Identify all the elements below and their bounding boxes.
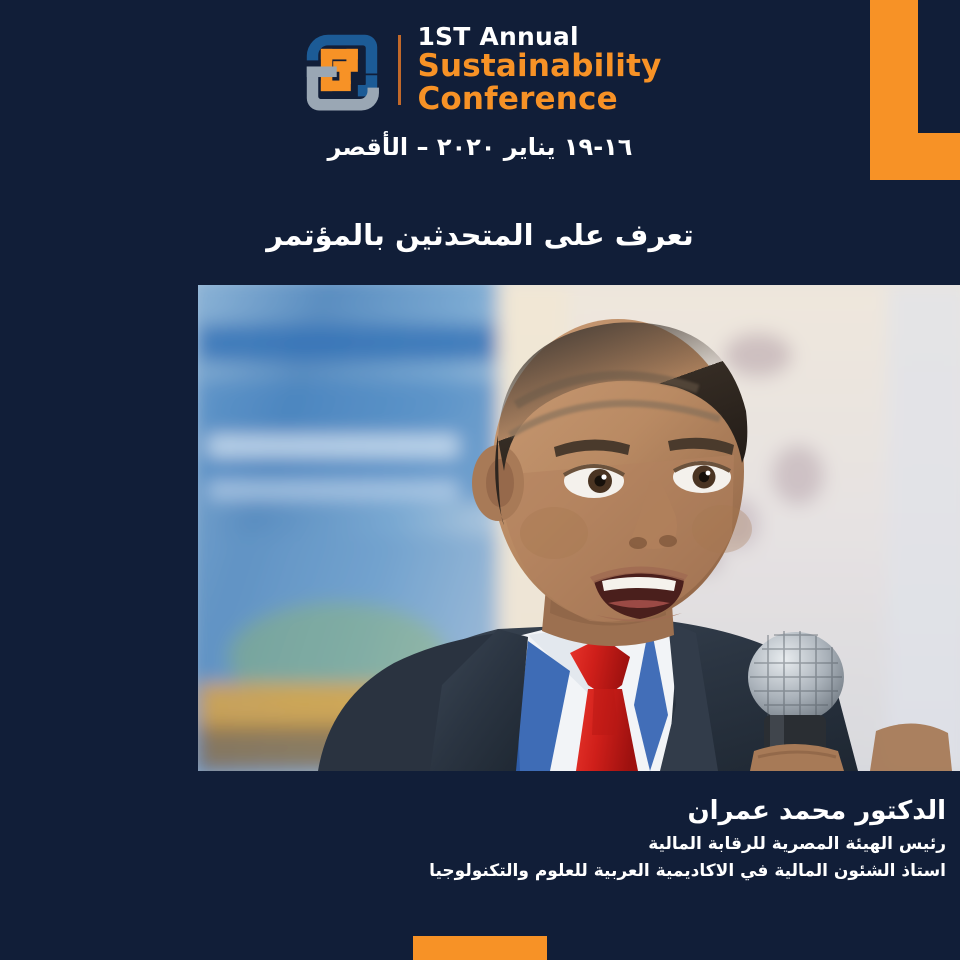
orange-bottom-bar: [413, 936, 547, 960]
event-date-line: ١٦-١٩ يناير ٢٠٢٠ – الأقصر: [0, 133, 960, 161]
speaker-role: رئيس الهيئة المصرية للرقابة المالية: [226, 834, 946, 855]
speaker-caption: الدكتور محمد عمران رئيس الهيئة المصرية ل…: [226, 796, 946, 882]
brand-line-2: Sustainability: [417, 51, 661, 82]
sustainability-conference-maze-logo: [298, 26, 386, 114]
brand-inner: 1ST Annual Sustainability Conference: [298, 24, 661, 115]
brand-lockup: 1ST Annual Sustainability Conference: [0, 24, 960, 115]
logo-divider: [398, 35, 401, 105]
speaker-affiliation: استاذ الشئون المالية في الاكاديمية العرب…: [226, 861, 946, 882]
brand-line-3: Conference: [417, 84, 661, 115]
speaker-portrait: [198, 285, 960, 771]
page-title: تعرف على المتحدثين بالمؤتمر: [0, 218, 960, 252]
brand-line-1: 1ST Annual: [417, 24, 661, 49]
brand-wordmark: 1ST Annual Sustainability Conference: [417, 24, 661, 115]
poster-canvas: 1ST Annual Sustainability Conference ١٦-…: [0, 0, 960, 960]
speaker-name: الدكتور محمد عمران: [226, 796, 946, 827]
